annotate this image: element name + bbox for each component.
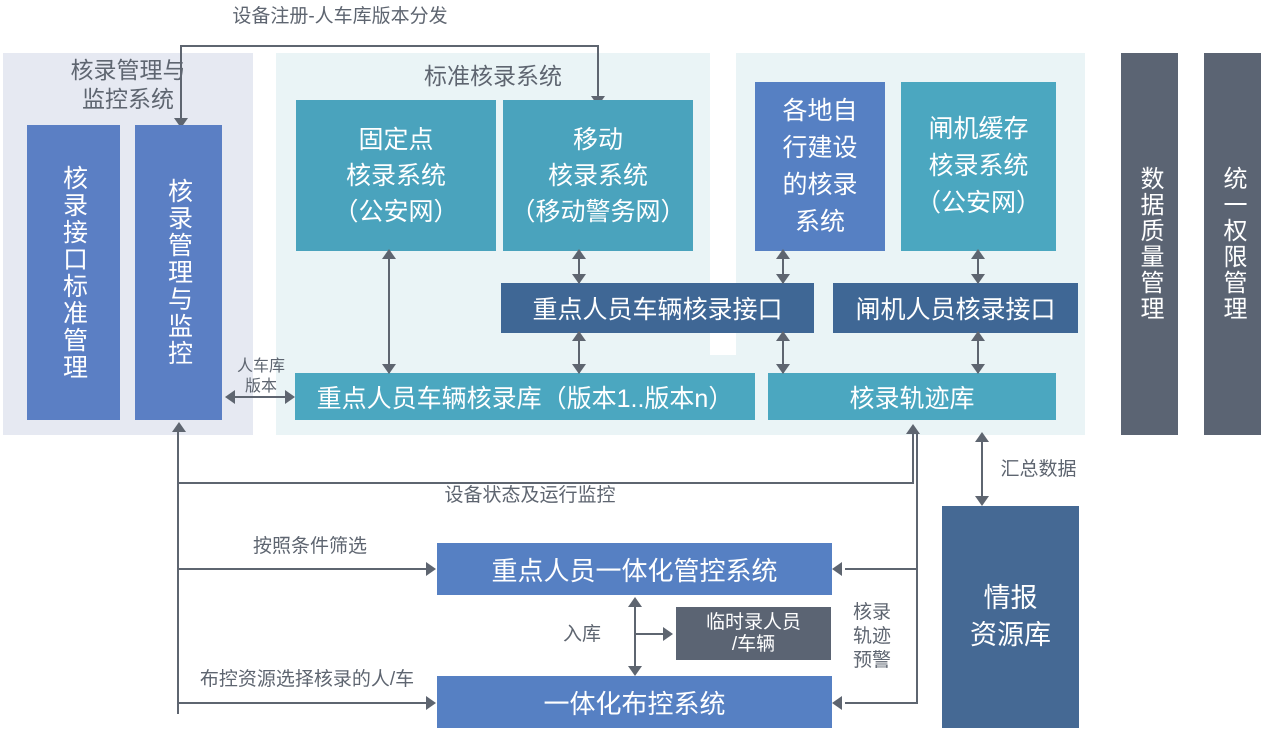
arrow-up-local <box>776 249 790 259</box>
connector-trace-alert-spine <box>916 505 918 702</box>
architecture-diagram: 核录管理与 监控系统 标准核录系统 设备注册-人车库版本分发 核录接口标准管理 … <box>0 0 1275 732</box>
box-data-quality-mgmt[interactable]: 数据质量管理 <box>1121 53 1178 435</box>
connector-enter-db <box>634 605 636 671</box>
arrow-down-mobile-api <box>572 274 586 284</box>
arrow-down-api-tracedb-left <box>776 364 790 374</box>
connector-top-bracket <box>180 45 599 47</box>
box-unified-permission-mgmt-label: 统一权限管理 <box>1215 166 1250 322</box>
arrow-left-trace-alert-bottom <box>832 696 842 710</box>
connector-trace-alert-bottom <box>845 702 918 704</box>
arrow-right-temp-record <box>663 627 673 641</box>
box-gate-person-api[interactable]: 闸机人员核录接口 <box>833 283 1078 333</box>
arrow-up-mobile <box>572 249 586 259</box>
connector-db-version <box>231 396 291 398</box>
box-temp-record-person-vehicle[interactable]: 临时录人员 /车辆 <box>676 607 831 660</box>
box-intel-resource-db[interactable]: 情报 资源库 <box>942 506 1079 728</box>
arrow-up-enter-db <box>628 597 642 607</box>
arrow-up-to-record-mgmt-bottom <box>172 422 186 432</box>
box-gate-person-api-label: 闸机人员核录接口 <box>855 290 1055 326</box>
box-mobile-system-label: 移动 核录系统 （移动警务网） <box>510 122 685 230</box>
connector-select-record <box>177 702 429 704</box>
box-unified-permission-mgmt[interactable]: 统一权限管理 <box>1204 53 1261 435</box>
box-gate-cache-system[interactable]: 闸机缓存 核录系统 （公安网） <box>901 82 1056 251</box>
arrow-down-gate-cache-api <box>971 274 985 284</box>
box-gate-cache-system-label: 闸机缓存 核录系统 （公安网） <box>916 111 1041 222</box>
arrow-up-gate-cache <box>971 249 985 259</box>
connector-device-status-riser <box>912 432 914 482</box>
arrow-down-gate-api-tracedb <box>971 364 985 374</box>
box-key-person-integrated-control[interactable]: 重点人员一体化管控系统 <box>437 543 832 595</box>
box-key-person-integrated-control-label: 重点人员一体化管控系统 <box>491 551 777 588</box>
box-data-quality-mgmt-label: 数据质量管理 <box>1132 166 1167 322</box>
arrow-right-filter <box>426 562 436 576</box>
box-key-person-vehicle-api[interactable]: 重点人员车辆核录接口 <box>501 283 814 333</box>
edge-label-aggregate-data: 汇总数据 <box>986 458 1091 482</box>
arrow-right-db-version <box>285 390 295 404</box>
arrow-down-api-db-left <box>572 364 586 374</box>
connector-aggregate-data <box>981 440 983 500</box>
edge-label-select-record-person-vehicle: 布控资源选择核录的人/车 <box>182 668 432 692</box>
box-fixed-point-system[interactable]: 固定点 核录系统 （公安网） <box>296 100 496 251</box>
box-trace-db[interactable]: 核录轨迹库 <box>768 373 1056 420</box>
box-fixed-point-system-label: 固定点 核录系统 （公安网） <box>333 122 458 230</box>
connector-record-mgmt-stem <box>177 430 179 714</box>
edge-label-device-register: 设备注册-人车库版本分发 <box>160 5 520 29</box>
connector-to-temp-record <box>634 633 666 635</box>
panel-standard-title: 标准核录系统 <box>276 62 710 91</box>
arrow-up-api-db-left <box>572 331 586 341</box>
arrow-down-aggregate-data <box>975 496 989 506</box>
box-key-person-vehicle-api-label: 重点人员车辆核录接口 <box>532 290 782 326</box>
arrow-up-fixed-point <box>382 249 396 259</box>
box-interface-standard-mgmt-label: 核录接口标准管理 <box>56 165 92 381</box>
connector-device-status <box>177 482 914 484</box>
connector-trace-alert-riser <box>916 432 918 507</box>
connector-filter-by-condition <box>177 568 429 570</box>
box-local-built-system-label: 各地自 行建设 的核录 系统 <box>782 93 857 241</box>
arrow-right-select-record <box>426 696 436 710</box>
edge-label-trace-alert: 核录 轨迹 预警 <box>846 601 898 673</box>
box-interface-standard-mgmt[interactable]: 核录接口标准管理 <box>27 125 120 420</box>
box-record-mgmt-monitor-label: 核录管理与监控 <box>161 178 197 367</box>
arrow-left-db-version <box>225 390 235 404</box>
box-mobile-system[interactable]: 移动 核录系统 （移动警务网） <box>503 100 693 251</box>
panel-management-title: 核录管理与 监控系统 <box>3 56 253 114</box>
connector-trace-alert-top <box>845 568 918 570</box>
arrow-down-enter-db <box>628 666 642 676</box>
box-integrated-deployment[interactable]: 一体化布控系统 <box>437 676 832 728</box>
box-temp-record-person-vehicle-label: 临时录人员 /车辆 <box>706 612 801 656</box>
arrow-up-aggregate-data <box>975 432 989 442</box>
arrow-left-trace-alert-top <box>832 562 842 576</box>
box-intel-resource-db-label: 情报 资源库 <box>970 580 1051 654</box>
edge-label-filter-by-condition: 按照条件筛选 <box>190 535 430 559</box>
arrow-up-gate-api-tracedb <box>971 331 985 341</box>
arrow-up-api-tracedb-left <box>776 331 790 341</box>
edge-label-enter-db: 入库 <box>552 623 612 647</box>
box-trace-db-label: 核录轨迹库 <box>849 379 974 415</box>
edge-label-device-status: 设备状态及运行监控 <box>380 484 680 508</box>
connector-top-right-drop <box>597 45 599 100</box>
connector-top-left-drop <box>180 45 182 122</box>
box-local-built-system[interactable]: 各地自 行建设 的核录 系统 <box>755 82 885 251</box>
box-integrated-deployment-label: 一体化布控系统 <box>543 684 725 721</box>
arrow-down-fixed-point-db <box>382 364 396 374</box>
connector-fixed-point-to-db <box>388 251 390 373</box>
box-record-mgmt-monitor[interactable]: 核录管理与监控 <box>135 125 222 420</box>
arrow-down-local-api <box>776 274 790 284</box>
box-key-person-vehicle-db-label: 重点人员车辆核录库（版本1..版本n） <box>317 379 734 415</box>
box-key-person-vehicle-db[interactable]: 重点人员车辆核录库（版本1..版本n） <box>295 373 755 420</box>
